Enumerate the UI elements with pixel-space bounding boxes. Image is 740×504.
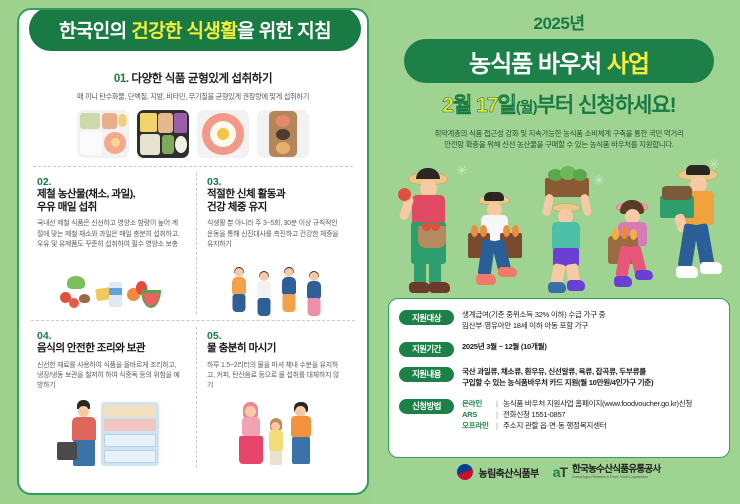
apply-value-offline: 주소지 관할 읍·면·동 행정복지센터 (503, 420, 607, 431)
section-02-desc: 국내산 제철 식품은 신선하고 영양소 함량이 높어 계절에 맞는 제철 채소와… (37, 219, 183, 250)
voucher-program-panel: 2025년 농식품 바우처 사업 2월 17일(월)부터 신청하세요! 취약계층… (378, 0, 740, 504)
farmer-boy-with-carrot-crates (466, 181, 528, 296)
footer-logos: 농림축산식품부 aT 한국농수산식품유통공사 Korea Agro-Fisher… (378, 464, 740, 480)
badge-support-period: 지원기간 (399, 342, 454, 357)
section-04-desc: 신선한 재료를 사용하여 식품을 올바르게 조리하고, 냉장/냉동 보관을 철저… (37, 361, 183, 392)
section-02-number: 02. (37, 176, 183, 188)
runner-4 (303, 272, 325, 314)
left-title-prefix: 한국인의 (59, 21, 131, 42)
section-05-title: 물 충분히 마시기 (207, 342, 345, 355)
program-title-highlight: 사업 (607, 51, 649, 78)
person-child (267, 418, 285, 468)
apply-row-online: 온라인 | 농식품 바우처 지원사업 홈페이지(www.foodvoucher.… (462, 398, 721, 409)
apply-key-online: 온라인 (462, 398, 496, 409)
badge-apply-method: 신청방법 (399, 399, 454, 414)
section-01-desc: 매 끼니 탄수화물, 단백질, 지방, 비타민, 무기질을 균형있게 권장량에 … (31, 92, 355, 102)
section-01-title: 다양한 식품 균형있게 섭취하기 (129, 73, 273, 85)
farmer-man-with-green-crate (664, 164, 728, 296)
guideline-section-01: 01. 다양한 식품 균형있게 섭취하기 매 끼니 탄수화물, 단백질, 지방,… (31, 64, 355, 167)
lunchbox-photo (137, 110, 189, 158)
vegetables-milk-fruit-icon (37, 256, 183, 314)
program-year: 2025년 (378, 9, 740, 34)
info-row-apply: 신청방법 온라인 | 농식품 바우처 지원사업 홈페이지(www.foodvou… (399, 398, 721, 432)
program-title: 농식품 바우처 사업 (469, 44, 649, 79)
apply-call-to-action: 부터 신청하세요! (537, 94, 676, 117)
apply-value-online[interactable]: 농식품 바우처 지원사업 홈페이지(www.foodvoucher.go.kr)… (503, 398, 692, 409)
farmer-boy-lifting-crate (536, 174, 598, 296)
guideline-section-02: 02. 제철 농산물(채소, 과일),우유 매일 섭취 국내산 제철 식품은 신… (31, 167, 193, 318)
info-row-period: 지원기간 2025년 3월 ~ 12월 (10개월) (399, 341, 721, 357)
person-father (288, 402, 314, 468)
poster-root: 한국인의 건강한 식생활을 위한 지침 01. 다양한 식품 균형있게 섭취하기… (0, 0, 740, 504)
support-target-line-1: 생계급여(기준 중위소득 32% 이하) 수급 가구 중 (462, 309, 721, 320)
support-target-line-2: 임산부·영유아만 18세 이하 아동 포함 가구 (462, 320, 721, 331)
section-03-desc: 식생활 뿐 아니라 주 3~5회, 30분 이상 규칙적인 운동을 통해 신진대… (207, 219, 345, 250)
section-05-number: 05. (207, 330, 345, 342)
refrigerator-storage-icon (37, 398, 183, 468)
program-info-box: 지원대상 생계급여(기준 중위소득 32% 이하) 수급 가구 중 임산부·영유… (388, 298, 730, 458)
guideline-section-04: 04. 음식의 안전한 조리와 보관 신선한 재료를 사용하여 식품을 올바르게… (31, 321, 193, 471)
section-04-title: 음식의 안전한 조리와 보관 (37, 342, 183, 355)
apply-separator: | (496, 398, 503, 409)
program-title-prefix: 농식품 바우처 (469, 51, 607, 78)
left-title-pill: 한국인의 건강한 식생활을 위한 지침 (29, 8, 361, 51)
runner-3 (278, 268, 300, 314)
badge-support-content: 지원내용 (399, 367, 454, 382)
at-logo-icon: aT (553, 464, 567, 480)
section-04-number: 04. (37, 330, 183, 342)
taegeuk-icon (457, 464, 473, 480)
apply-row-ars: ARS | 전화신청 1551-0857 (462, 409, 721, 420)
badge-support-target: 지원대상 (399, 310, 454, 325)
logo-at-label-kr: 한국농수산식품유통공사 (572, 465, 660, 475)
support-content-line-1: 국산 과일류, 채소류, 흰우유, 신선알류, 육류, 잡곡류, 두부류를 (462, 366, 721, 377)
logo-at: aT 한국농수산식품유통공사 Korea Agro-Fisheries & Fo… (553, 464, 661, 480)
cutting-board-photo (257, 110, 309, 158)
logo-mafra-label: 농림축산식품부 (478, 465, 538, 480)
info-row-target: 지원대상 생계급여(기준 중위소득 32% 이하) 수급 가구 중 임산부·영유… (399, 309, 721, 332)
start-date: 2월 17일 (442, 94, 516, 117)
support-content-lines: 국산 과일류, 채소류, 흰우유, 신선알류, 육류, 잡곡류, 두부류를 구입… (462, 366, 721, 389)
logo-at-text: 한국농수산식품유통공사 Korea Agro-Fisheries & Food … (572, 465, 660, 479)
section-03-number: 03. (207, 176, 345, 188)
dietary-guidelines-card: 한국인의 건강한 식생활을 위한 지침 01. 다양한 식품 균형있게 섭취하기… (17, 8, 369, 495)
family-drinking-water-icon (207, 398, 345, 468)
guideline-section-03: 03. 적절한 신체 활동과건강 체중 유지 식생활 뿐 아니라 주 3~5회,… (193, 167, 355, 318)
apply-method-lines: 온라인 | 농식품 바우처 지원사업 홈페이지(www.foodvoucher.… (462, 398, 721, 432)
section-01-heading: 01. 다양한 식품 균형있게 섭취하기 (31, 70, 355, 86)
logo-mafra: 농림축산식품부 (457, 464, 538, 480)
apply-separator: | (496, 409, 503, 420)
runner-2 (253, 272, 275, 314)
program-description-line-1: 취약계층의 식품 접근성 강화 및 지속가능한 농식품 소비체계 구축을 통한 … (394, 128, 724, 139)
program-description: 취약계층의 식품 접근성 강화 및 지속가능한 농식품 소비체계 구축을 통한 … (394, 128, 724, 151)
farmers-illustration: ✳ ✳ ✳ (378, 150, 740, 302)
support-target-lines: 생계급여(기준 중위소득 32% 이하) 수급 가구 중 임산부·영유아만 18… (462, 309, 721, 332)
apply-separator: | (496, 420, 503, 431)
support-period-line-1: 2025년 3월 ~ 12월 (10개월) (462, 341, 721, 352)
left-card-body: 01. 다양한 식품 균형있게 섭취하기 매 끼니 탄수화물, 단백질, 지방,… (19, 56, 367, 493)
logo-at-label-en: Korea Agro-Fisheries & Food Trade Corpor… (572, 475, 660, 479)
fried-egg-toast-photo (197, 110, 249, 158)
section-02-title: 제철 농산물(채소, 과일),우유 매일 섭취 (37, 188, 183, 214)
tray-meal-photo (77, 110, 129, 158)
start-day-of-week: (월) (516, 99, 537, 116)
person-mother (238, 402, 264, 468)
running-people-icon (207, 256, 345, 314)
guideline-section-05: 05. 물 충분히 마시기 하루 1.5~2리터의 물을 마셔 체내 수분을 유… (193, 321, 355, 471)
section-01-number: 01. (114, 73, 129, 85)
left-title-text: 한국인의 건강한 식생활을 위한 지침 (59, 16, 331, 43)
guidelines-grid: 02. 제철 농산물(채소, 과일),우유 매일 섭취 국내산 제철 식품은 신… (31, 167, 355, 472)
farmer-woman-with-basket (398, 166, 460, 296)
apply-key-ars: ARS (462, 409, 496, 420)
program-start-date-line: 2월 17일(월)부터 신청하세요! (378, 89, 740, 119)
support-period-lines: 2025년 3월 ~ 12월 (10개월) (462, 341, 721, 352)
apply-key-offline: 오프라인 (462, 420, 496, 431)
info-row-content: 지원내용 국산 과일류, 채소류, 흰우유, 신선알류, 육류, 잡곡류, 두부… (399, 366, 721, 389)
section-03-title: 적절한 신체 활동과건강 체중 유지 (207, 188, 345, 214)
food-photo-row (31, 110, 355, 158)
support-content-line-2: 구입할 수 있는 농식품바우처 카드 지원(월 10만원/4인가구 기준) (462, 377, 721, 388)
farmer-girl-with-sack (602, 184, 664, 296)
left-title-suffix: 을 위한 지침 (237, 21, 331, 42)
program-title-pill: 농식품 바우처 사업 (404, 39, 714, 83)
runner-1 (228, 268, 250, 314)
left-title-highlight: 건강한 식생활 (131, 21, 237, 42)
apply-row-offline: 오프라인 | 주소지 관할 읍·면·동 행정복지센터 (462, 420, 721, 431)
apply-value-ars: 전화신청 1551-0857 (503, 409, 565, 420)
section-05-desc: 하루 1.5~2리터의 물을 마셔 체내 수분을 유지하고, 커피, 탄산음료 … (207, 361, 345, 392)
